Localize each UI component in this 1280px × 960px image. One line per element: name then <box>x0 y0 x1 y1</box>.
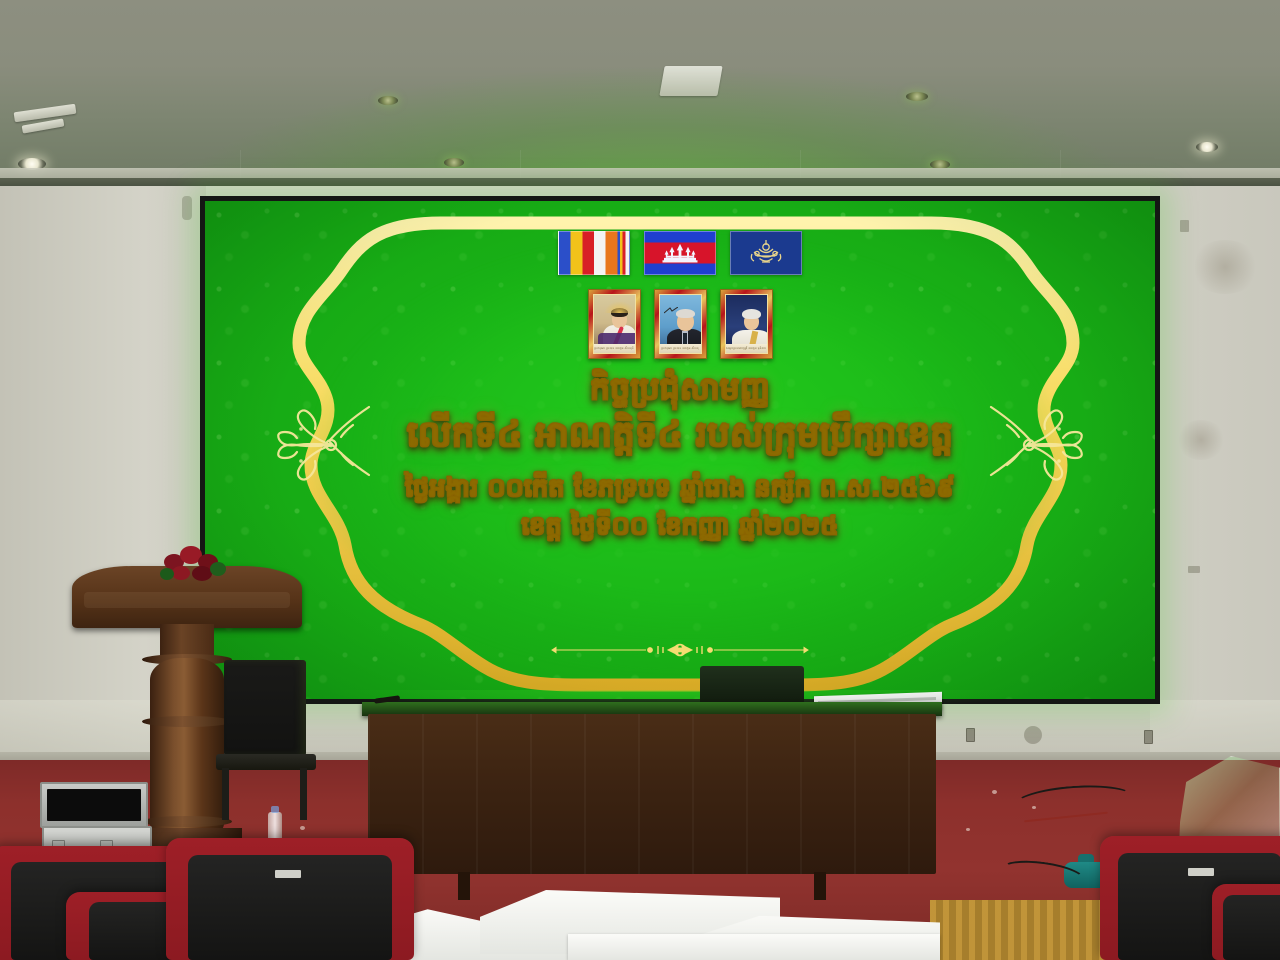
ceiling-downlight <box>444 158 464 167</box>
wall-outlet[interactable] <box>966 728 975 742</box>
ceiling-downlight <box>1196 142 1218 152</box>
foam-boards[interactable] <box>380 884 940 960</box>
ceiling-projector-mount <box>659 66 722 96</box>
led-screen[interactable]: ព្រះករុណា ព្រះបាទ នរោត្តម សីហមុនី <box>200 196 1160 704</box>
conference-hall-scene: ព្រះករុណា ព្រះបាទ នរោត្តម សីហមុនី <box>0 0 1280 960</box>
ceiling-vent <box>22 118 65 133</box>
ceiling <box>0 0 1280 186</box>
ceiling-vent <box>14 104 77 123</box>
ceiling-downlight <box>378 96 398 105</box>
audience-chair[interactable] <box>1212 884 1280 960</box>
monitor-back <box>700 666 804 706</box>
stage-chair[interactable] <box>210 660 320 810</box>
flower-arrangement <box>158 544 236 590</box>
head-table[interactable] <box>362 702 942 898</box>
wall-outlet[interactable] <box>1144 730 1153 744</box>
audience-chair[interactable] <box>166 838 414 960</box>
ceiling-downlight <box>906 92 928 101</box>
